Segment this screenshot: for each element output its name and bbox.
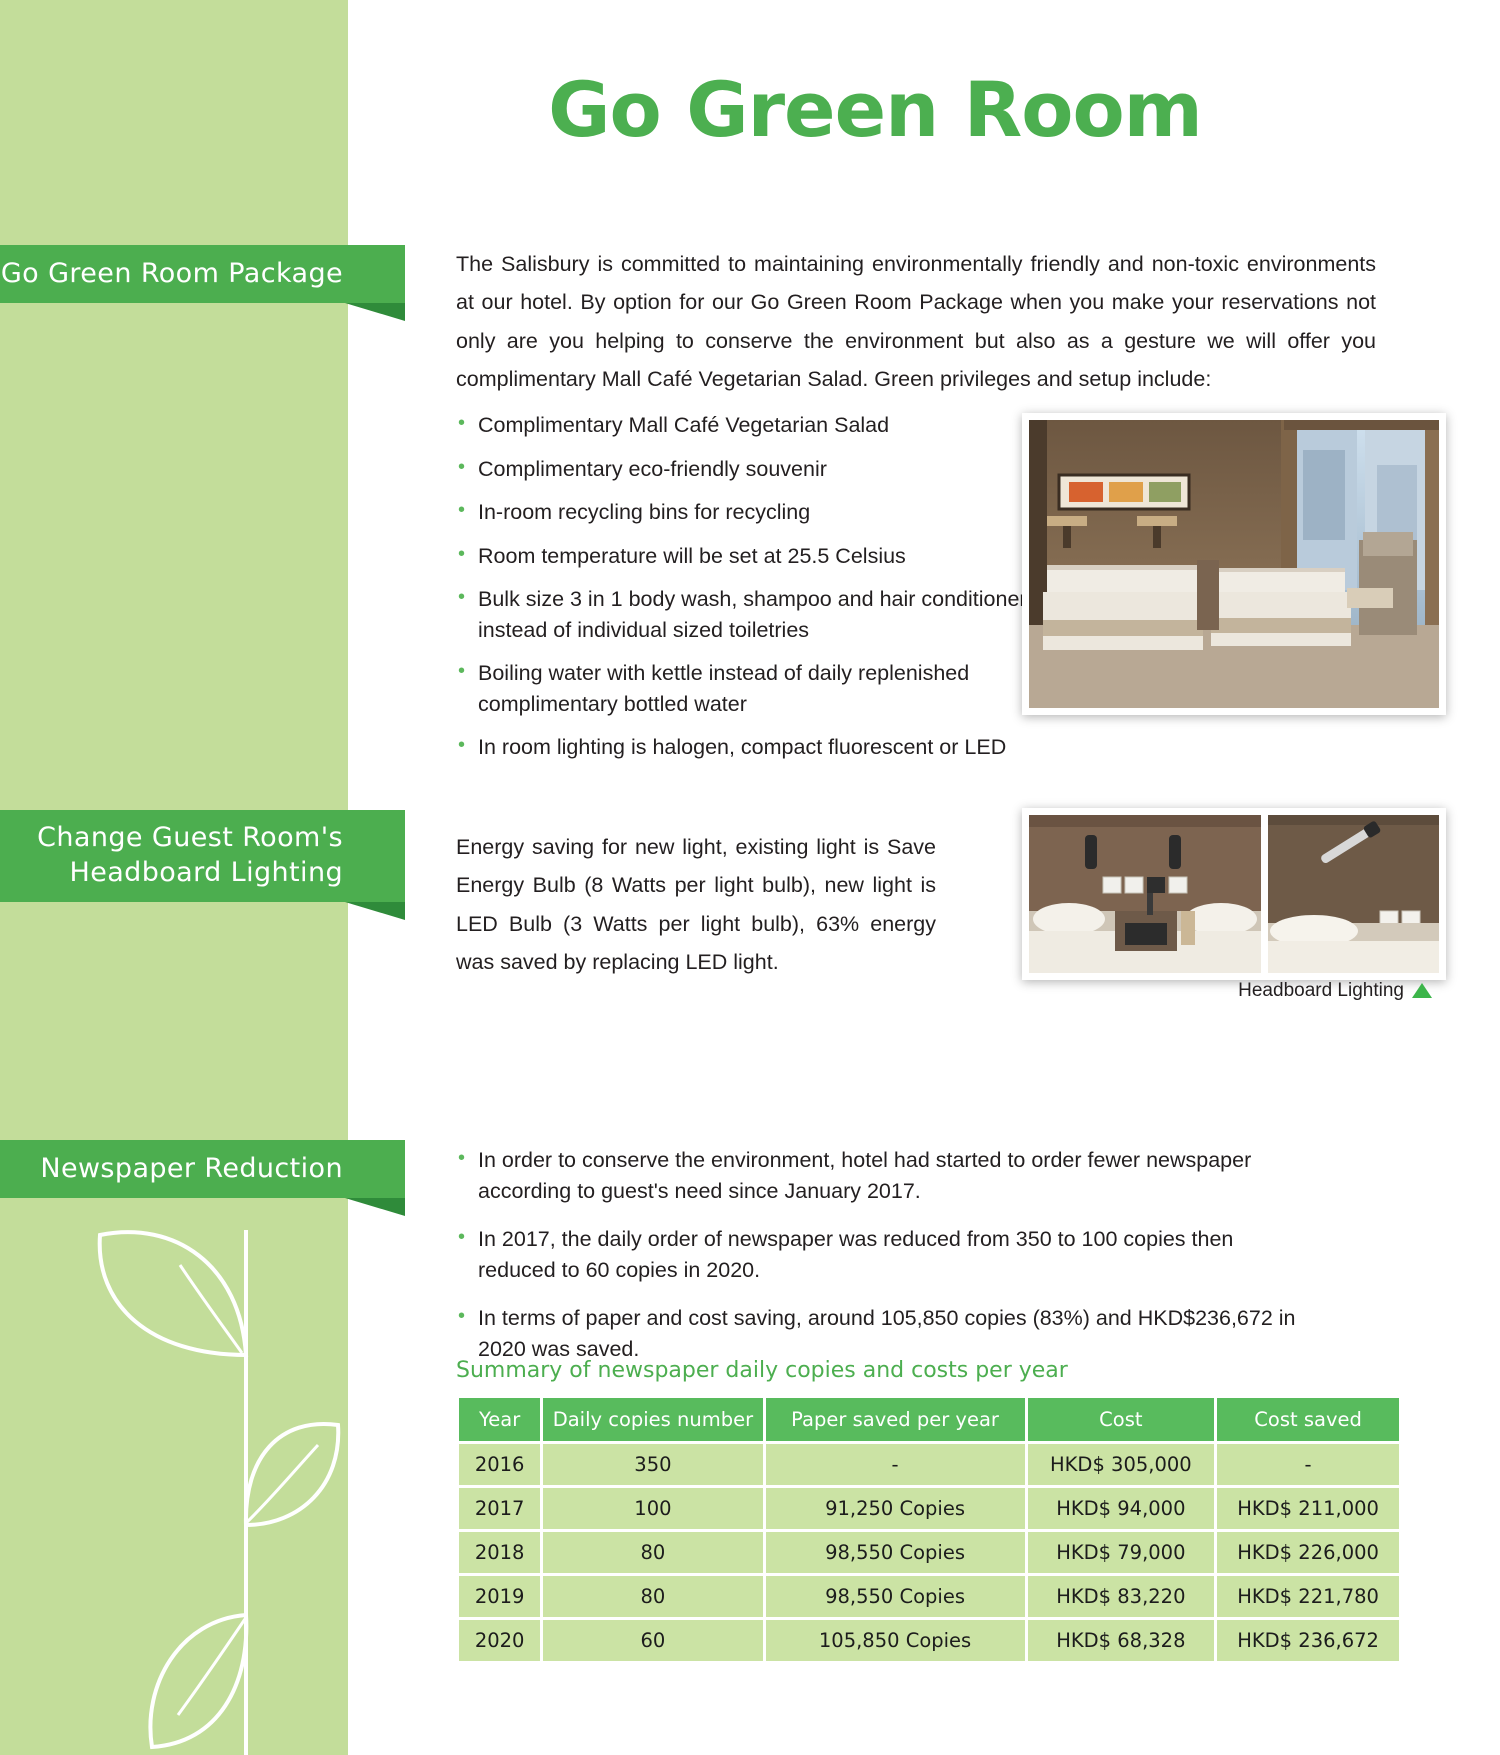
list-item: In-room recycling bins for recycling [456, 497, 1036, 528]
ribbon-fold-icon [345, 1198, 405, 1216]
col-header-paper-saved: Paper saved per year [766, 1398, 1025, 1441]
cell-paper-saved: 98,550 Copies [766, 1532, 1025, 1573]
cell-cost: HKD$ 94,000 [1028, 1488, 1215, 1529]
list-item: In terms of paper and cost saving, aroun… [456, 1303, 1306, 1364]
col-header-year: Year [459, 1398, 540, 1441]
guest-room-photo-frame [1022, 413, 1446, 715]
ribbon-label: Change Guest Room's Headboard Lighting [37, 821, 343, 890]
col-header-cost: Cost [1028, 1398, 1215, 1441]
cell-year: 2017 [459, 1488, 540, 1529]
list-item: Room temperature will be set at 25.5 Cel… [456, 541, 1036, 572]
cell-daily-copies: 350 [543, 1444, 762, 1485]
table-row: 2016 350 - HKD$ 305,000 - [459, 1444, 1399, 1485]
table-header-row: Year Daily copies number Paper saved per… [459, 1398, 1399, 1441]
list-item: In order to conserve the environment, ho… [456, 1145, 1306, 1206]
up-arrow-icon [1412, 983, 1432, 998]
guest-room-photo [1029, 420, 1439, 708]
list-item: Complimentary eco-friendly souvenir [456, 454, 1036, 485]
table-title: Summary of newspaper daily copies and co… [456, 1358, 1068, 1383]
ribbon-label: Newspaper Reduction [40, 1152, 343, 1187]
cell-cost: HKD$ 83,220 [1028, 1576, 1215, 1617]
cell-cost: HKD$ 305,000 [1028, 1444, 1215, 1485]
page-title: Go Green Room [440, 72, 1310, 148]
cell-year: 2020 [459, 1620, 540, 1661]
cell-daily-copies: 80 [543, 1532, 762, 1573]
table-row: 2018 80 98,550 Copies HKD$ 79,000 HKD$ 2… [459, 1532, 1399, 1573]
list-item: In room lighting is halogen, compact flu… [456, 732, 1036, 763]
poster-page: Go Green Room Go Green Room Package The … [0, 0, 1500, 1755]
list-item: In 2017, the daily order of newspaper wa… [456, 1224, 1306, 1285]
lighting-paragraph: Energy saving for new light, existing li… [456, 828, 936, 981]
cell-year: 2016 [459, 1444, 540, 1485]
cell-year: 2019 [459, 1576, 540, 1617]
leaf-illustration [0, 1195, 348, 1755]
cell-cost-saved: HKD$ 236,672 [1217, 1620, 1399, 1661]
cell-daily-copies: 100 [543, 1488, 762, 1529]
table-row: 2020 60 105,850 Copies HKD$ 68,328 HKD$ … [459, 1620, 1399, 1661]
col-header-cost-saved: Cost saved [1217, 1398, 1399, 1441]
cell-paper-saved: - [766, 1444, 1025, 1485]
cell-year: 2018 [459, 1532, 540, 1573]
list-item: Bulk size 3 in 1 body wash, shampoo and … [456, 584, 1036, 645]
cell-cost: HKD$ 68,328 [1028, 1620, 1215, 1661]
cell-paper-saved: 91,250 Copies [766, 1488, 1025, 1529]
headboard-led-photo [1268, 815, 1439, 973]
col-header-daily-copies: Daily copies number [543, 1398, 762, 1441]
cell-cost: HKD$ 79,000 [1028, 1532, 1215, 1573]
section-header-newspaper-reduction: Newspaper Reduction [0, 1140, 405, 1198]
cell-cost-saved: HKD$ 211,000 [1217, 1488, 1399, 1529]
ribbon-fold-icon [345, 902, 405, 920]
list-item: Complimentary Mall Café Vegetarian Salad [456, 410, 1036, 441]
intro-paragraph: The Salisbury is committed to maintainin… [456, 245, 1376, 398]
cell-cost-saved: HKD$ 221,780 [1217, 1576, 1399, 1617]
section-header-headboard-lighting: Change Guest Room's Headboard Lighting [0, 810, 405, 902]
headboard-photo-frame [1022, 808, 1446, 980]
newspaper-summary-table: Year Daily copies number Paper saved per… [456, 1395, 1402, 1664]
ribbon-fold-icon [345, 303, 405, 321]
package-benefits-list: Complimentary Mall Café Vegetarian Salad… [456, 410, 1036, 776]
headboard-photo-caption: Headboard Lighting [1150, 980, 1432, 1002]
cell-paper-saved: 105,850 Copies [766, 1620, 1025, 1661]
cell-daily-copies: 60 [543, 1620, 762, 1661]
ribbon-label: Go Green Room Package [1, 257, 343, 292]
headboard-existing-photo [1029, 815, 1261, 973]
table-row: 2019 80 98,550 Copies HKD$ 83,220 HKD$ 2… [459, 1576, 1399, 1617]
cell-cost-saved: - [1217, 1444, 1399, 1485]
table-row: 2017 100 91,250 Copies HKD$ 94,000 HKD$ … [459, 1488, 1399, 1529]
newspaper-reduction-list: In order to conserve the environment, ho… [456, 1145, 1306, 1382]
list-item: Boiling water with kettle instead of dai… [456, 658, 1036, 719]
cell-paper-saved: 98,550 Copies [766, 1576, 1025, 1617]
cell-daily-copies: 80 [543, 1576, 762, 1617]
caption-text: Headboard Lighting [1238, 980, 1404, 1001]
section-header-go-green-room-package: Go Green Room Package [0, 245, 405, 303]
cell-cost-saved: HKD$ 226,000 [1217, 1532, 1399, 1573]
